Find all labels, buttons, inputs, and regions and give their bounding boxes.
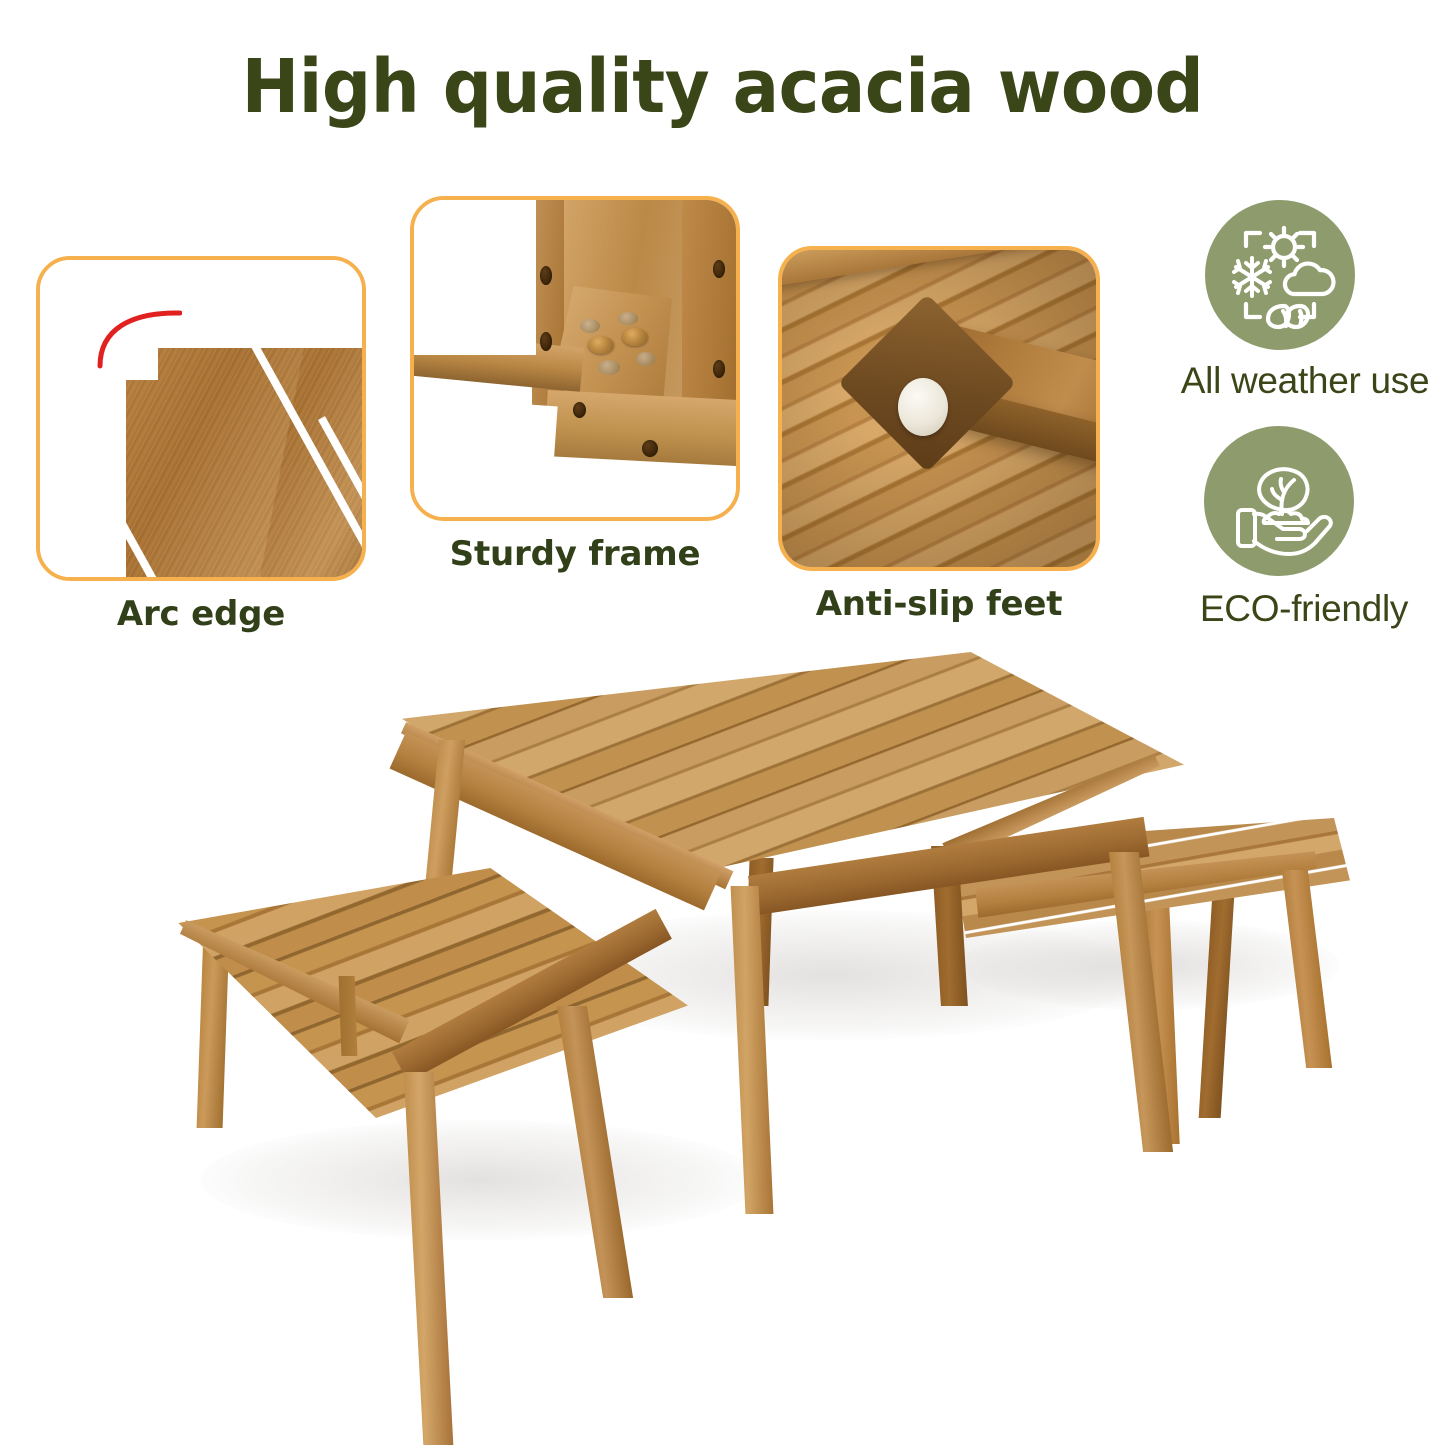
sturdy-frame-photo bbox=[414, 200, 736, 517]
arc-edge-photo bbox=[40, 260, 362, 577]
hand-icon bbox=[1254, 514, 1305, 539]
feature-photo-frame-arc-edge bbox=[36, 256, 366, 581]
infographic-canvas: High quality acacia wood bbox=[0, 0, 1445, 1445]
all-weather-icon bbox=[1205, 200, 1355, 350]
front-bench-shadow bbox=[200, 1120, 760, 1240]
feature-label-anti-slip-feet: Anti-slip feet bbox=[778, 584, 1100, 624]
eco-hand-plant-icon bbox=[1204, 426, 1354, 576]
feature-panel-sturdy-frame: Sturdy frame bbox=[410, 196, 740, 586]
feature-photo-frame-sturdy-frame bbox=[410, 196, 740, 521]
feature-panel-anti-slip-feet: Anti-slip feet bbox=[778, 246, 1100, 636]
front-bench-leg-back-right bbox=[339, 976, 358, 1056]
feature-panel-arc-edge: Arc edge bbox=[36, 256, 366, 646]
page-title: High quality acacia wood bbox=[51, 44, 1395, 130]
hero-product-photo bbox=[0, 620, 1445, 1445]
feature-label-sturdy-frame: Sturdy frame bbox=[410, 534, 740, 574]
red-arc-indicator bbox=[96, 308, 182, 370]
badge-label-all-weather: All weather use bbox=[1140, 360, 1445, 402]
anti-slip-pad bbox=[898, 378, 948, 436]
feature-photo-frame-anti-slip-feet bbox=[778, 246, 1100, 571]
bracket-tl bbox=[1246, 233, 1260, 246]
